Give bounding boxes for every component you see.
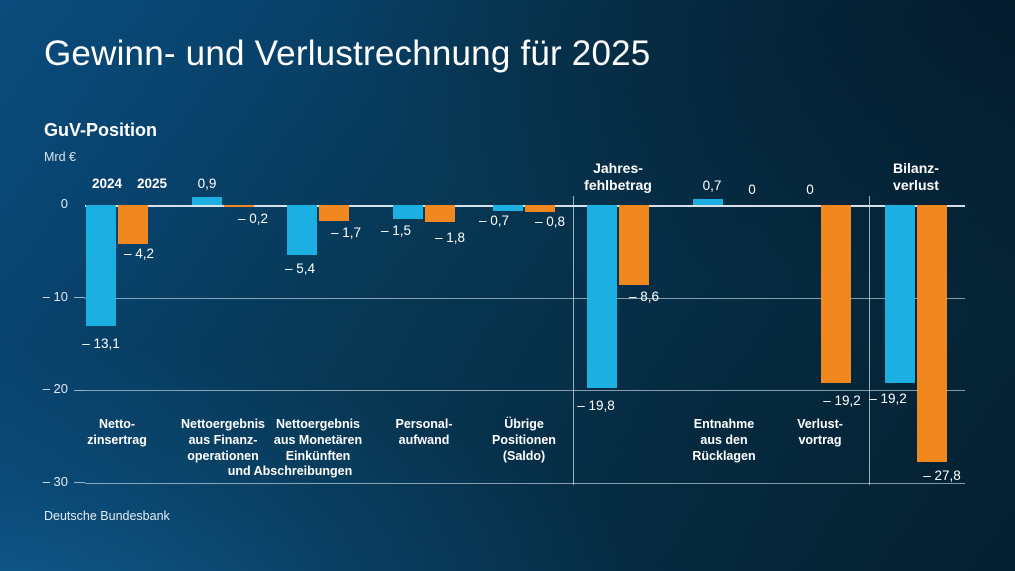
value-label-2025-0: – 4,2	[116, 246, 162, 261]
value-label-2025-2: – 1,7	[323, 225, 369, 240]
y-tick-label: – 30	[8, 474, 68, 489]
group-title-bilanzverlust: Bilanz- verlust	[836, 160, 996, 194]
legend-2025: 2025	[137, 176, 167, 191]
value-label-2024-3: – 1,5	[373, 223, 419, 238]
bar-2025-8[interactable]	[917, 205, 947, 462]
bar-2024-1[interactable]	[192, 197, 222, 205]
x-category-label-7: Verlust- vortrag	[758, 416, 882, 448]
bar-2025-7[interactable]	[821, 205, 851, 383]
y-tickmark--20	[74, 390, 85, 391]
value-label-2024-5: – 19,8	[573, 398, 619, 413]
y-tick-label: 0	[8, 196, 68, 211]
y-tick-label: – 10	[8, 289, 68, 304]
bar-2025-0[interactable]	[118, 205, 148, 244]
bar-2025-3[interactable]	[425, 205, 455, 222]
gridline--30	[85, 483, 965, 484]
value-label-2025-8: – 27,8	[919, 468, 965, 483]
gridline--20	[85, 390, 965, 391]
value-label-2025-1: – 0,2	[230, 211, 276, 226]
legend-2024: 2024	[92, 176, 122, 191]
x-category-span-label: und Abschreibungen	[160, 464, 420, 478]
y-tickmark--30	[74, 482, 85, 483]
group-title-jahresfehlbetrag: Jahres- fehlbetrag	[538, 160, 698, 194]
value-label-2024-7: 0	[787, 182, 833, 197]
bar-2025-4[interactable]	[525, 205, 555, 212]
value-label-2024-2: – 5,4	[277, 261, 323, 276]
bar-2024-4[interactable]	[493, 205, 523, 211]
bar-2024-3[interactable]	[393, 205, 423, 219]
value-label-2024-1: 0,9	[184, 176, 230, 191]
bar-2024-2[interactable]	[287, 205, 317, 255]
value-label-2024-8: – 19,2	[865, 391, 911, 406]
y-tick-label: – 20	[8, 381, 68, 396]
page-title: Gewinn- und Verlustrechnung für 2025	[44, 34, 650, 74]
value-label-2025-6: 0	[729, 182, 775, 197]
bar-2024-0[interactable]	[86, 205, 116, 326]
bar-2025-2[interactable]	[319, 205, 349, 221]
value-label-2025-7: – 19,2	[819, 393, 865, 408]
value-label-2024-4: – 0,7	[471, 213, 517, 228]
y-tickmark--10	[74, 297, 85, 298]
bar-2024-5[interactable]	[587, 205, 617, 388]
value-label-2025-5: – 8,6	[621, 289, 667, 304]
x-category-label-4: Übrige Positionen (Saldo)	[462, 416, 586, 464]
value-label-2025-4: – 0,8	[527, 214, 573, 229]
chart-subtitle: GuV-Position	[44, 120, 157, 141]
axis-unit-label: Mrd €	[44, 150, 76, 164]
bar-2025-5[interactable]	[619, 205, 649, 285]
bar-2024-6[interactable]	[693, 199, 723, 205]
source-label: Deutsche Bundesbank	[44, 509, 170, 523]
value-label-2025-3: – 1,8	[427, 230, 473, 245]
bar-2024-8[interactable]	[885, 205, 915, 383]
bar-2025-1[interactable]	[224, 205, 254, 207]
chart-canvas: Gewinn- und Verlustrechnung für 2025 GuV…	[0, 0, 1015, 571]
value-label-2024-0: – 13,1	[78, 336, 124, 351]
